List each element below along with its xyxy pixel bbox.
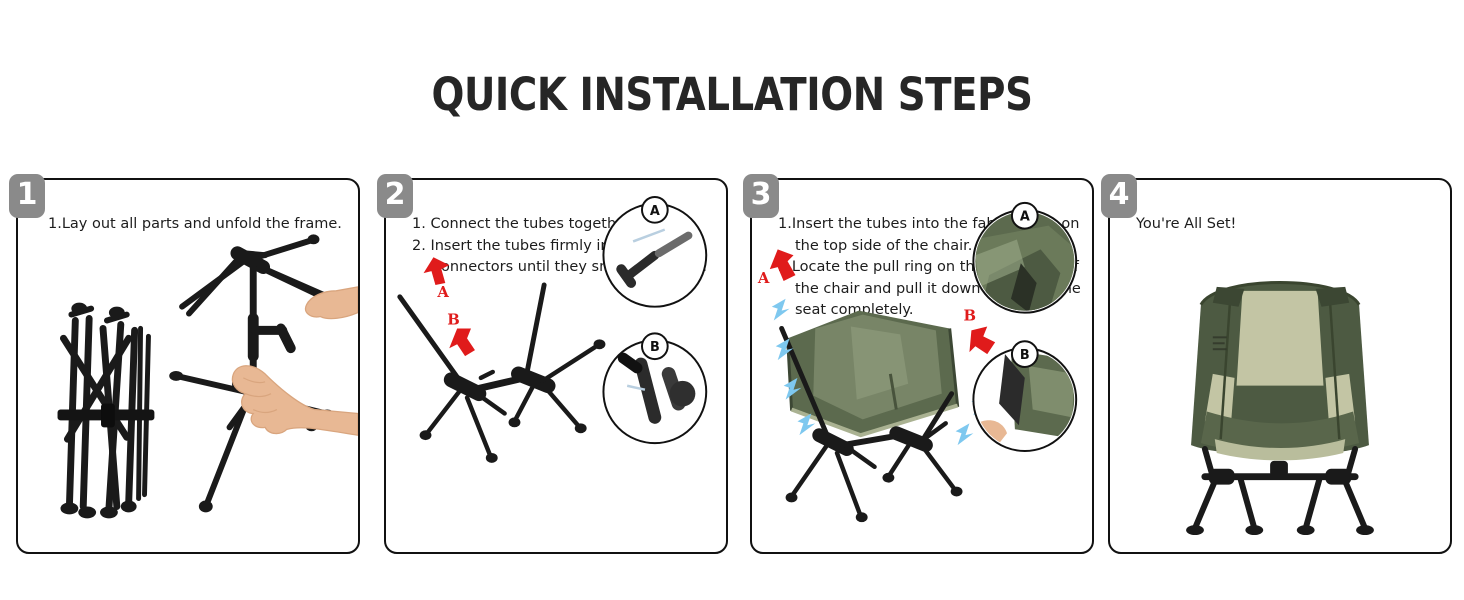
step-panel-3: 3 1.Insert the tubes into the fabric hol… [750,178,1094,554]
step-panel-4: 4 You're All Set! [1108,178,1452,554]
callout-label-b: B [1020,348,1030,363]
callout-circle-b: B [973,341,1076,451]
callout-circle-b: B [603,333,706,443]
arrow-label-a: A [436,284,449,301]
step-badge-3: 3 [743,174,779,218]
step-panel-2: 2 1. Connect the tubes together. 2. Inse… [384,178,728,554]
step-badge-4: 4 [1101,174,1137,218]
step-1-illustration [18,180,358,552]
step-badge-1: 1 [9,174,45,218]
callout-label-a: A [650,204,660,219]
step-2-illustration: A B A [386,180,726,552]
step-panel-1: 1 1.Lay out all parts and unfold the fra… [16,178,360,554]
arrow-label-b: B [964,308,977,325]
callout-circle-a: A [603,197,706,307]
step-badge-2: 2 [377,174,413,218]
step-3-illustration: A B A [752,180,1092,552]
installation-guide: QUICK INSTALLATION STEPS 1 1.Lay out all… [0,0,1464,600]
callout-label-b: B [650,340,660,355]
callout-circle-a: A [973,203,1076,313]
step-4-illustration [1110,180,1450,552]
page-title: QUICK INSTALLATION STEPS [102,72,1361,117]
callout-label-a: A [1020,210,1030,225]
arrow-label-b: B [447,311,460,328]
arrow-label-a: A [757,270,770,287]
